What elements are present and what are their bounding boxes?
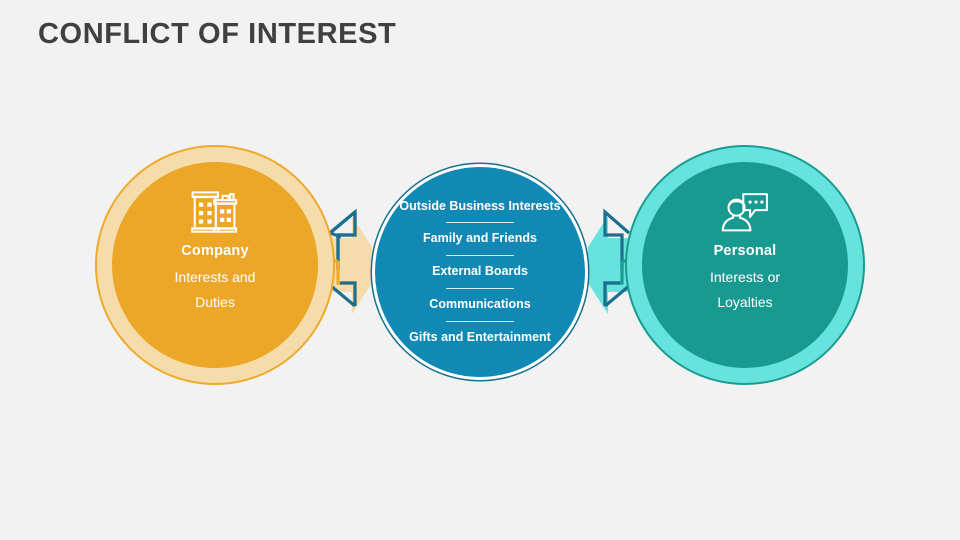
list-divider [446, 321, 514, 322]
page-title: CONFLICT OF INTEREST [38, 18, 396, 51]
node-personal-title: Personal [714, 243, 777, 259]
node-personal-subtitle: Interests or Loyalties [710, 265, 780, 314]
node-company-inner: Company Interests and Duties [112, 162, 318, 368]
center-item-list: Outside Business Interests Family and Fr… [375, 200, 585, 345]
node-personal-subtitle-line1: Interests or [710, 265, 780, 290]
list-item: Gifts and Entertainment [407, 331, 553, 345]
node-company-title: Company [181, 243, 248, 259]
list-item: Family and Friends [421, 232, 539, 246]
conflict-of-interest-diagram: Company Interests and Duties Outside Bus… [0, 120, 960, 410]
node-personal-subtitle-line2: Loyalties [710, 290, 780, 315]
node-company[interactable]: Company Interests and Duties [95, 145, 335, 385]
list-item: External Boards [430, 265, 530, 279]
slide-canvas: CONFLICT OF INTEREST [0, 0, 960, 540]
node-center[interactable]: Outside Business Interests Family and Fr… [372, 164, 588, 380]
list-item: Outside Business Interests [397, 200, 562, 214]
list-divider [446, 255, 514, 256]
node-company-subtitle-line2: Duties [175, 290, 256, 315]
list-item: Communications [427, 298, 532, 312]
list-divider [446, 288, 514, 289]
node-personal-inner: Personal Interests or Loyalties [642, 162, 848, 368]
node-company-subtitle: Interests and Duties [175, 265, 256, 314]
person-speech-bubble-icon [718, 189, 772, 233]
node-company-subtitle-line1: Interests and [175, 265, 256, 290]
node-personal[interactable]: Personal Interests or Loyalties [625, 145, 865, 385]
office-buildings-icon [188, 189, 242, 233]
list-divider [446, 222, 514, 223]
